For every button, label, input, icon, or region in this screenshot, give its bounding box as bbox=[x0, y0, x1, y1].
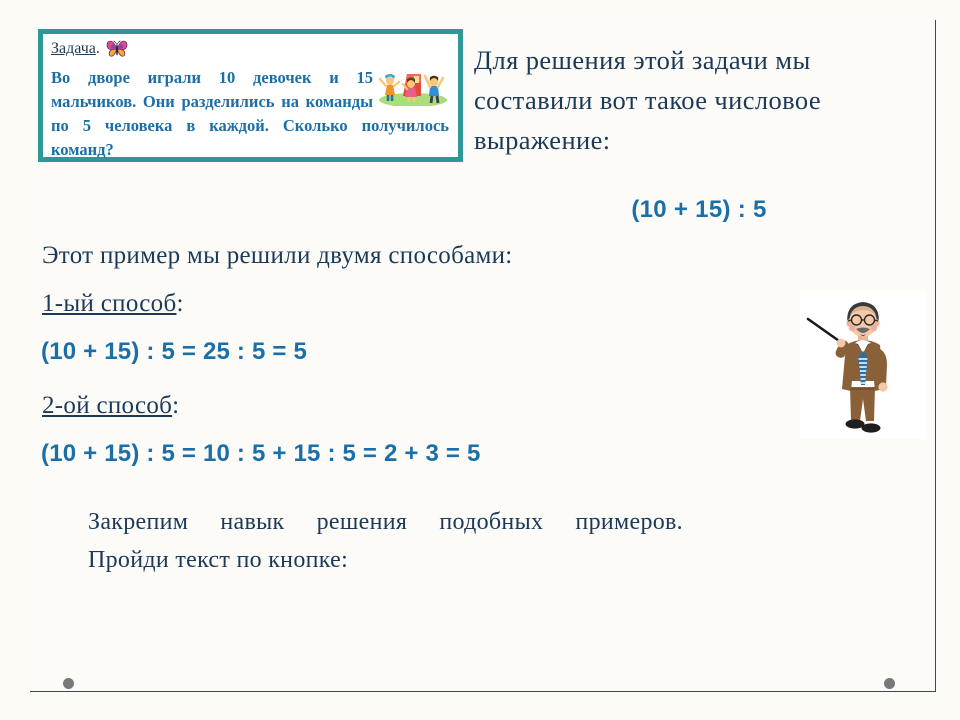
method-1-label-colon: : bbox=[176, 290, 183, 317]
bullet-dot-right bbox=[884, 678, 895, 689]
problem-statement-box: Задача . bbox=[38, 29, 463, 162]
method-2-equation: (10 + 15) : 5 = 10 : 5 + 15 : 5 = 2 + 3 … bbox=[41, 440, 481, 468]
method-2-label-colon: : bbox=[172, 392, 179, 419]
closing-line-1: Закрепим навык решения подобных примеров… bbox=[88, 503, 683, 541]
slide-canvas: Задача . bbox=[30, 20, 935, 691]
closing-paragraph: Закрепим навык решения подобных примеров… bbox=[88, 503, 683, 579]
intro-expression: (10 + 15) : 5 bbox=[474, 196, 924, 224]
intro-paragraph: Для решения этой задачи мы составили вот… bbox=[474, 40, 924, 160]
method-2-label: 2-ой способ: bbox=[42, 392, 179, 420]
problem-label-period: . bbox=[96, 40, 100, 58]
problem-text: Во дворе играли 10 девочек и 15 мальчико… bbox=[51, 66, 449, 162]
solved-two-ways-line: Этот пример мы решили двумя способами: bbox=[42, 242, 513, 270]
teacher-with-pointer-icon bbox=[800, 291, 926, 439]
method-1-label: 1-ый способ: bbox=[42, 290, 184, 318]
method-1-label-text: 1-ый способ bbox=[42, 290, 176, 317]
bullet-dot-left bbox=[63, 678, 74, 689]
slide-frame: Задача . bbox=[30, 20, 936, 692]
method-2-label-text: 2-ой способ bbox=[42, 392, 172, 419]
closing-line-2: Пройди текст по кнопке: bbox=[88, 541, 683, 579]
butterfly-icon bbox=[105, 38, 129, 65]
method-1-equation: (10 + 15) : 5 = 25 : 5 = 5 bbox=[41, 338, 307, 366]
children-playing-icon bbox=[377, 62, 449, 113]
problem-label: Задача bbox=[51, 40, 96, 58]
